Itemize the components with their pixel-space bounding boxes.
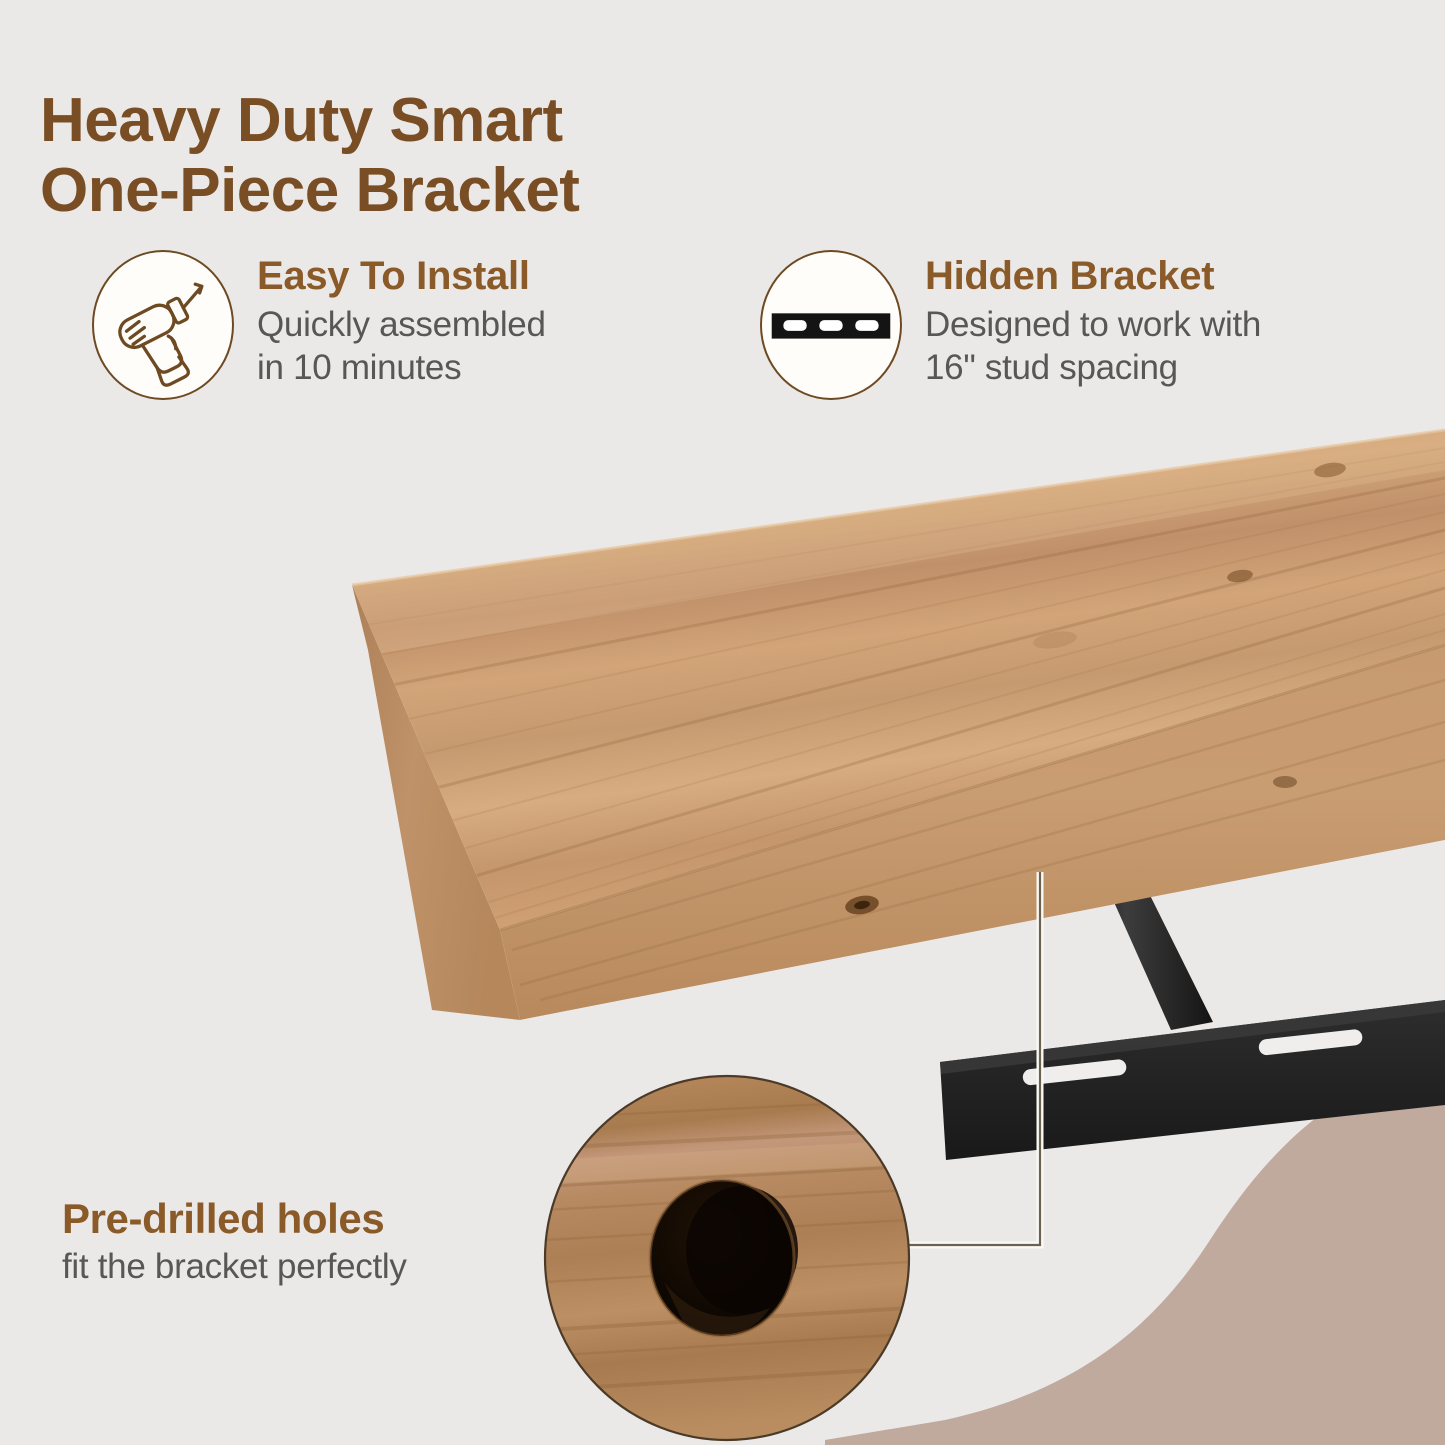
infographic-canvas: Heavy Duty Smart One-Piece Bracket <box>0 0 1445 1445</box>
callout-title: Pre-drilled holes <box>62 1196 407 1241</box>
page-title: Heavy Duty Smart One-Piece Bracket <box>40 86 579 226</box>
feature-easy-to-install: Easy To Install Quickly assembled in 10 … <box>92 250 692 400</box>
bracket-bar-icon <box>760 250 902 400</box>
feature-hidden-bracket: Hidden Bracket Designed to work with 16"… <box>760 250 1400 400</box>
callout-description: fit the bracket perfectly <box>62 1247 407 1287</box>
feature-description: Quickly assembled in 10 minutes <box>257 304 546 389</box>
drill-icon <box>92 250 234 400</box>
zoom-inset-circle <box>545 1076 909 1440</box>
feature-title: Hidden Bracket <box>925 254 1261 298</box>
feature-title: Easy To Install <box>257 254 546 298</box>
feature-description: Designed to work with 16" stud spacing <box>925 304 1261 389</box>
callout-pre-drilled-holes: Pre-drilled holes fit the bracket perfec… <box>62 1196 407 1288</box>
